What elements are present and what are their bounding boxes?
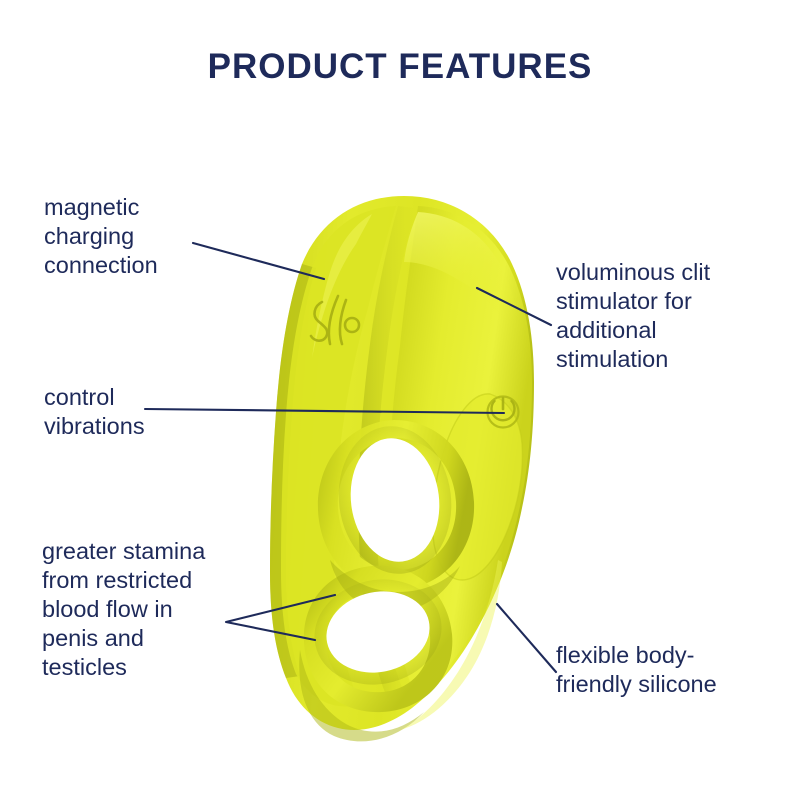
flexible-silicone-leader bbox=[497, 604, 556, 672]
control-vibrations-leader bbox=[145, 409, 504, 413]
magnetic-charging-leader bbox=[193, 243, 324, 279]
leader-lines bbox=[0, 0, 800, 800]
infographic-canvas: PRODUCT FEATURES bbox=[0, 0, 800, 800]
voluminous-clit-leader bbox=[477, 288, 551, 325]
greater-stamina-leader bbox=[226, 595, 335, 640]
